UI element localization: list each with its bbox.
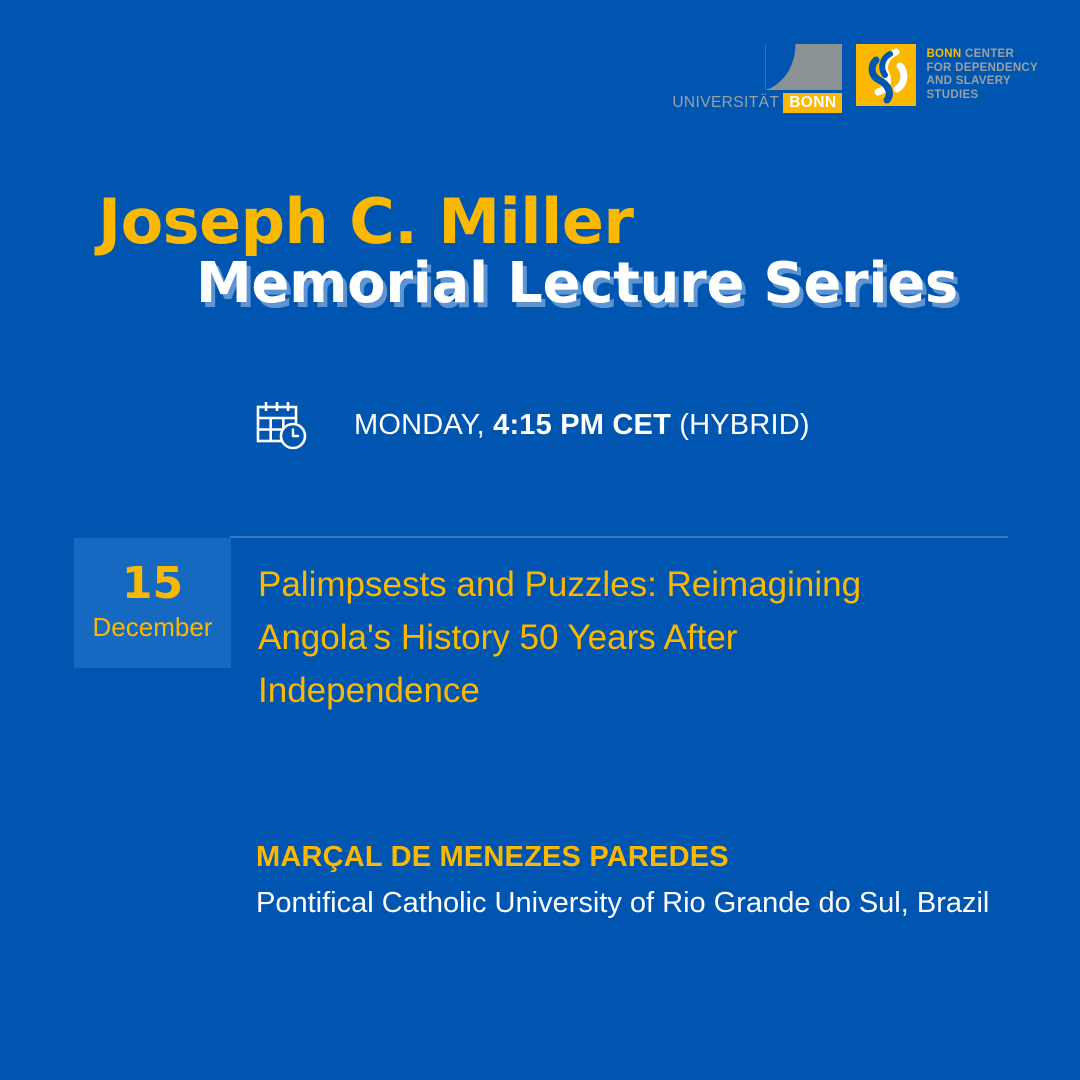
university-crest-icon (765, 44, 842, 90)
schedule-day: MONDAY, (354, 409, 485, 441)
event-date-day: 15 (122, 559, 183, 609)
event-talk-title: Palimpsests and Puzzles: Reimagining Ang… (258, 538, 948, 717)
bcdss-line1-rest: CENTER (965, 48, 1014, 60)
speaker-block: MARÇAL DE MENEZES PAREDES Pontifical Cat… (256, 838, 989, 927)
speaker-affiliation: Pontifical Catholic University of Rio Gr… (256, 880, 989, 927)
bcdss-line4: STUDIES (926, 89, 1038, 103)
schedule-line: MONDAY, 4:15 PM CET (HYBRID) (254, 399, 810, 451)
university-bonn-badge: BONN (783, 93, 842, 113)
bcdss-line1-bold: BONN (926, 48, 961, 60)
university-bonn-logo: UNIVERSITÄT BONN (692, 44, 842, 113)
schedule-format: (HYBRID) (679, 409, 810, 441)
chain-links-icon (856, 44, 916, 106)
bcdss-logo: BONN CENTER FOR DEPENDENCY AND SLAVERY S… (856, 44, 1038, 106)
bcdss-line3: AND SLAVERY (926, 75, 1038, 89)
logo-bar: UNIVERSITÄT BONN BONN CENTER FOR DEPENDE… (692, 44, 1038, 113)
calendar-clock-icon (254, 399, 310, 451)
schedule-text: MONDAY, 4:15 PM CET (HYBRID) (354, 408, 810, 442)
university-word: UNIVERSITÄT (672, 93, 779, 113)
event-date-month: December (93, 611, 213, 643)
lecture-series-title-line2: Memorial Lecture Series (196, 248, 958, 320)
event-row: 15 December Palimpsests and Puzzles: Rei… (74, 538, 1020, 717)
bcdss-line2: FOR DEPENDENCY (926, 62, 1038, 76)
bcdss-logo-text: BONN CENTER FOR DEPENDENCY AND SLAVERY S… (926, 44, 1038, 102)
speaker-name: MARÇAL DE MENEZES PAREDES (256, 838, 989, 876)
schedule-time: 4:15 PM CET (493, 409, 671, 441)
event-date-box: 15 December (74, 538, 231, 668)
